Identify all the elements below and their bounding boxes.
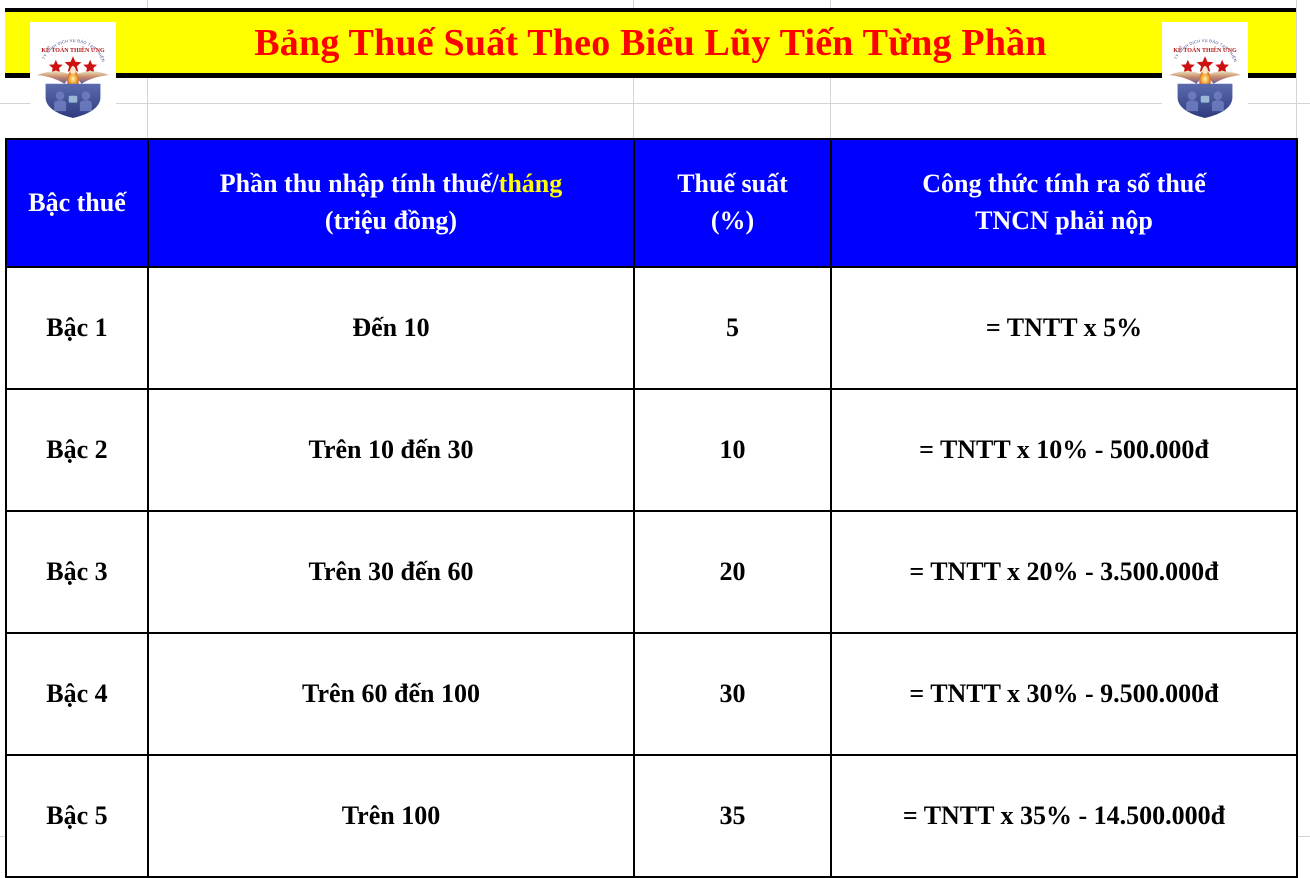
cell-income: Trên 100 (148, 755, 634, 877)
cell-rate: 35 (634, 755, 831, 877)
title-banner: Bảng Thuế Suất Theo Biểu Lũy Tiến Từng P… (5, 8, 1296, 78)
column-header-formula-label-line2: TNCN phải nộp (838, 203, 1290, 240)
eagle-shield-logo-icon: CÔNG TY TNHH DỊCH VỤ ĐÀO TẠO THIÊN ƯNG K… (30, 22, 116, 118)
cell-income: Trên 60 đến 100 (148, 633, 634, 755)
cell-rate: 10 (634, 389, 831, 511)
column-header-income-label-line2: (triệu đồng) (155, 203, 627, 240)
grid-line-horizontal (0, 103, 1310, 104)
column-header-bac-thue: Bậc thuế (6, 139, 148, 267)
cell-income: Trên 30 đến 60 (148, 511, 634, 633)
cell-formula: = TNTT x 20% - 3.500.000đ (831, 511, 1297, 633)
cell-bac: Bậc 3 (6, 511, 148, 633)
tax-rate-table: Bậc thuế Phần thu nhập tính thuế/tháng (… (5, 138, 1298, 878)
page-title: Bảng Thuế Suất Theo Biểu Lũy Tiến Từng P… (254, 24, 1046, 62)
cell-formula: = TNTT x 10% - 500.000đ (831, 389, 1297, 511)
cell-bac: Bậc 1 (6, 267, 148, 389)
column-header-income: Phần thu nhập tính thuế/tháng (triệu đồn… (148, 139, 634, 267)
table-row: Bậc 5 Trên 100 35 = TNTT x 35% - 14.500.… (6, 755, 1297, 877)
column-header-formula: Công thức tính ra số thuế TNCN phải nộp (831, 139, 1297, 267)
table-row: Bậc 3 Trên 30 đến 60 20 = TNTT x 20% - 3… (6, 511, 1297, 633)
cell-bac: Bậc 4 (6, 633, 148, 755)
column-header-formula-label-line1: Công thức tính ra số thuế (838, 166, 1290, 203)
cell-rate: 5 (634, 267, 831, 389)
column-header-income-label-line1: Phần thu nhập tính thuế/tháng (155, 166, 627, 203)
company-logo-left: CÔNG TY TNHH DỊCH VỤ ĐÀO TẠO THIÊN ƯNG K… (30, 22, 116, 118)
table-row: Bậc 4 Trên 60 đến 100 30 = TNTT x 30% - … (6, 633, 1297, 755)
cell-income: Trên 10 đến 30 (148, 389, 634, 511)
column-header-rate: Thuế suất (%) (634, 139, 831, 267)
cell-formula: = TNTT x 35% - 14.500.000đ (831, 755, 1297, 877)
cell-bac: Bậc 2 (6, 389, 148, 511)
column-header-rate-label-line1: Thuế suất (641, 166, 824, 203)
svg-text:KẾ TOÁN THIÊN ƯNG: KẾ TOÁN THIÊN ƯNG (41, 46, 105, 54)
cell-formula: = TNTT x 30% - 9.500.000đ (831, 633, 1297, 755)
table-header-row: Bậc thuế Phần thu nhập tính thuế/tháng (… (6, 139, 1297, 267)
company-logo-right: CÔNG TY TNHH DỊCH VỤ ĐÀO TẠO THIÊN ƯNG K… (1162, 22, 1248, 118)
cell-bac: Bậc 5 (6, 755, 148, 877)
cell-rate: 20 (634, 511, 831, 633)
cell-income: Đến 10 (148, 267, 634, 389)
column-header-rate-label-line2: (%) (641, 203, 824, 240)
income-label-highlight: tháng (499, 169, 563, 198)
table-row: Bậc 1 Đến 10 5 = TNTT x 5% (6, 267, 1297, 389)
svg-text:KẾ TOÁN THIÊN ƯNG: KẾ TOÁN THIÊN ƯNG (1173, 46, 1237, 54)
eagle-shield-logo-icon: CÔNG TY TNHH DỊCH VỤ ĐÀO TẠO THIÊN ƯNG K… (1162, 22, 1248, 118)
cell-formula: = TNTT x 5% (831, 267, 1297, 389)
column-header-bac-thue-label: Bậc thuế (13, 185, 141, 222)
table-row: Bậc 2 Trên 10 đến 30 10 = TNTT x 10% - 5… (6, 389, 1297, 511)
cell-rate: 30 (634, 633, 831, 755)
